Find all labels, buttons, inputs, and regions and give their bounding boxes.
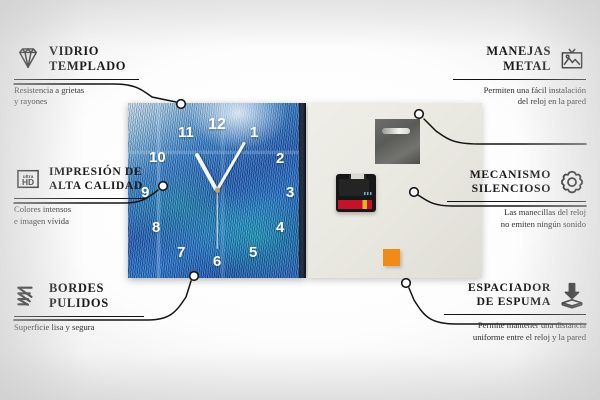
clock-numeral-7: 7: [177, 245, 185, 260]
mechanism-terminals: [364, 192, 373, 195]
clock-numeral-3: 3: [286, 185, 294, 200]
wall-hanger-icon: [558, 45, 586, 73]
callout-description: Resistencia a grietasy rayones: [14, 85, 139, 108]
callout-description: Permite mantener una distanciauniforme e…: [444, 320, 586, 343]
gear-icon: [558, 168, 586, 196]
callout-title: MECANISMOSILENCIOSO: [470, 168, 551, 196]
wall-clock-front: 12 1 2 3 4 5 6 7 8 9 10 11: [128, 103, 306, 278]
clock-center-hub: [215, 188, 220, 193]
infographic-canvas: 12 1 2 3 4 5 6 7 8 9 10 11: [0, 0, 600, 400]
clock-numeral-10: 10: [149, 150, 166, 165]
clock-second-hand: [216, 191, 217, 249]
quartz-mechanism: [336, 174, 376, 212]
callout-header: ESPACIADORDE ESPUMA: [444, 281, 586, 309]
callout-bordes-pulidos[interactable]: BORDESPULIDOS Superficie lisa y segura: [14, 281, 144, 333]
callout-title: BORDESPULIDOS: [49, 281, 109, 311]
clock-side-edge: [299, 103, 306, 278]
diamond-icon: [14, 45, 42, 73]
callout-divider: [447, 201, 586, 202]
foam-spacer-pad: [383, 249, 400, 266]
callout-title: MANEJASMETAL: [486, 44, 551, 74]
callout-divider: [444, 314, 586, 315]
callout-description: Las manecillas del relojno emiten ningún…: [447, 207, 586, 230]
clock-numeral-12: 12: [208, 117, 226, 133]
callout-mecanismo-silencioso[interactable]: MECANISMOSILENCIOSO Las manecillas del r…: [447, 168, 586, 231]
callout-title: ESPACIADORDE ESPUMA: [468, 281, 551, 309]
clock-numeral-8: 8: [152, 220, 160, 235]
callout-description: Colores intensose imagen vívida: [14, 204, 146, 227]
mechanism-label: [338, 200, 372, 209]
clock-numeral-11: 11: [178, 125, 194, 140]
clock-numeral-1: 1: [250, 125, 258, 140]
foam-spacer-icon: [558, 281, 586, 309]
clock-numeral-2: 2: [276, 151, 284, 166]
callout-divider: [453, 79, 586, 80]
metal-hanger-plate-icon: [375, 119, 420, 164]
callout-description: Superficie lisa y segura: [14, 322, 144, 334]
product-image-group: 12 1 2 3 4 5 6 7 8 9 10 11: [128, 103, 482, 278]
callout-title: VIDRIOTEMPLADO: [49, 44, 126, 74]
connector-dot-espaciador: [402, 279, 411, 288]
callout-divider: [14, 198, 146, 199]
callout-header: ultra HD IMPRESIÓN DEALTA CALIDAD: [14, 165, 146, 193]
callout-description: Permiten una fácil instalacióndel reloj …: [453, 85, 586, 108]
clock-numeral-4: 4: [276, 220, 284, 235]
clock-numeral-6: 6: [213, 254, 221, 269]
svg-text:HD: HD: [22, 177, 34, 187]
hanger-slot: [382, 128, 410, 134]
callout-divider: [14, 79, 139, 80]
callout-header: MANEJASMETAL: [453, 44, 586, 74]
callout-impresion-alta-calidad[interactable]: ultra HD IMPRESIÓN DEALTA CALIDAD Colore…: [14, 165, 146, 228]
callout-title: IMPRESIÓN DEALTA CALIDAD: [49, 165, 143, 192]
callout-header: VIDRIOTEMPLADO: [14, 44, 139, 74]
callout-header: MECANISMOSILENCIOSO: [447, 168, 586, 196]
callout-vidrio-templado[interactable]: VIDRIOTEMPLADO Resistencia a grietasy ra…: [14, 44, 139, 108]
polished-edges-icon: [14, 282, 42, 310]
callout-espaciador-espuma[interactable]: ESPACIADORDE ESPUMA Permite mantener una…: [444, 281, 586, 344]
clock-numeral-5: 5: [249, 245, 257, 260]
callout-divider: [14, 316, 144, 317]
callout-header: BORDESPULIDOS: [14, 281, 144, 311]
callout-manejas-metal[interactable]: MANEJASMETAL Permiten una fácil instalac…: [453, 44, 586, 108]
ultra-hd-icon: ultra HD: [14, 165, 42, 193]
